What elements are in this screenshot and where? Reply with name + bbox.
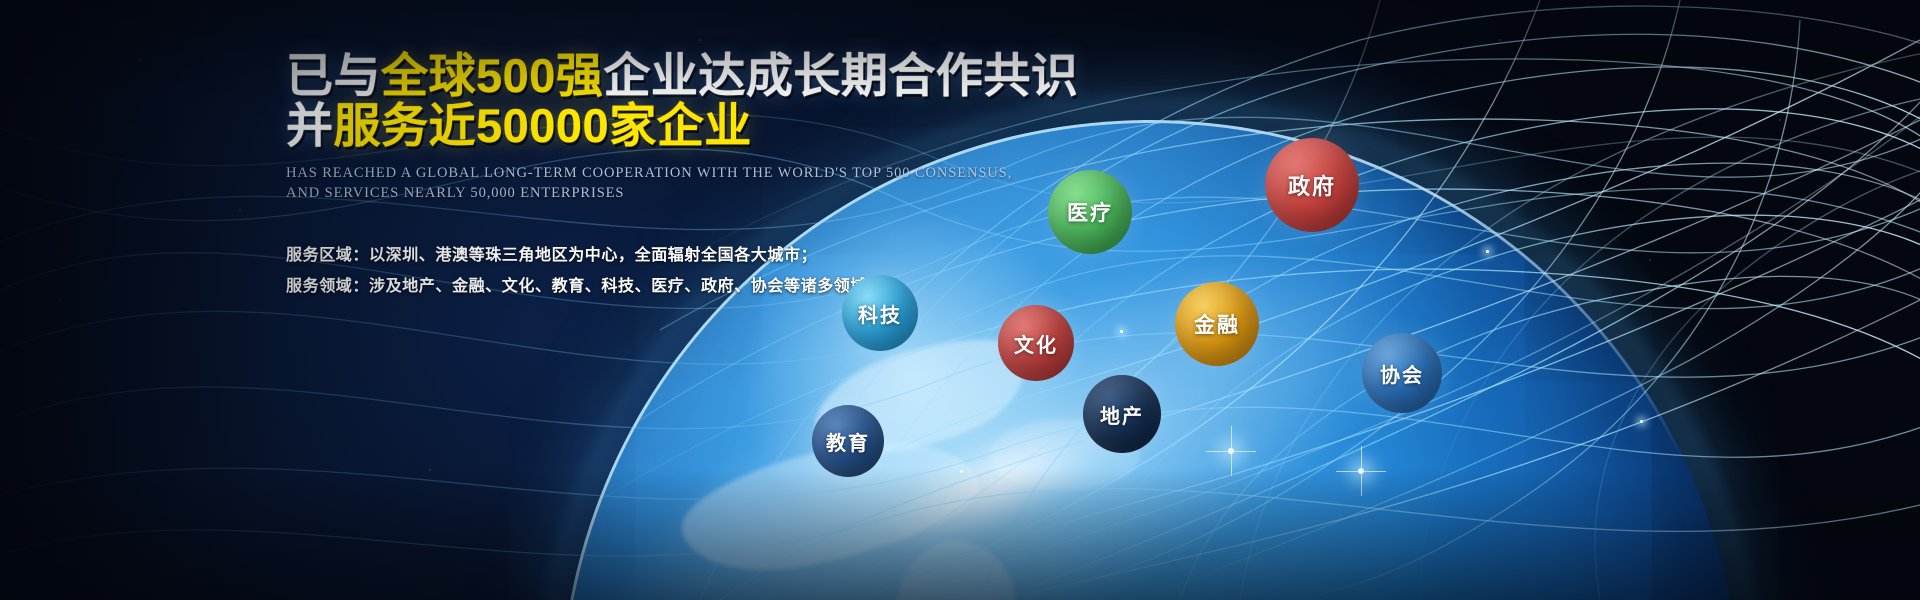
bubble-realestate-label: 地产 — [1100, 400, 1144, 429]
bubble-technology[interactable]: 科技 — [842, 275, 918, 351]
bubble-culture-label: 文化 — [1014, 329, 1058, 358]
headline-line-2: 并服务近50000家企业 — [286, 102, 1046, 150]
bubble-association[interactable]: 协会 — [1362, 333, 1442, 413]
service-description: 服务区域：以深圳、港澳等珠三角地区为中心，全面辐射全国各大城市； 服务领域：涉及… — [286, 240, 1046, 302]
english-subtitle-line-2: AND SERVICES NEARLY 50,000 ENTERPRISES — [286, 183, 1046, 204]
sparkle-node — [1486, 250, 1489, 253]
bubble-culture[interactable]: 文化 — [998, 305, 1074, 381]
bubble-technology-label: 科技 — [858, 299, 902, 328]
bubble-medical[interactable]: 医疗 — [1048, 170, 1132, 254]
sparkle-node — [1640, 420, 1643, 423]
bubble-education-label: 教育 — [826, 427, 870, 456]
service-area-line: 服务区域：以深圳、港澳等珠三角地区为中心，全面辐射全国各大城市； — [286, 240, 1046, 271]
sparkle-node — [1228, 448, 1234, 454]
bubble-finance-label: 金融 — [1194, 309, 1240, 339]
bubble-medical-label: 医疗 — [1067, 197, 1113, 227]
english-subtitle: HAS REACHED A GLOBAL LONG-TERM COOPERATI… — [286, 163, 1046, 204]
bubble-realestate[interactable]: 地产 — [1083, 375, 1161, 453]
bubble-government[interactable]: 政府 — [1265, 138, 1359, 232]
banner-copy: 已与全球500强企业达成长期合作共识 并服务近50000家企业 HAS REAC… — [286, 52, 1046, 302]
headline-line-1: 已与全球500强企业达成长期合作共识 — [286, 52, 1046, 100]
sparkle-node — [1358, 468, 1364, 474]
service-field-line: 服务领域：涉及地产、金融、文化、教育、科技、医疗、政府、协会等诸多领域。 — [286, 271, 1046, 302]
english-subtitle-line-1: HAS REACHED A GLOBAL LONG-TERM COOPERATI… — [286, 163, 1046, 184]
bubble-finance[interactable]: 金融 — [1175, 282, 1259, 366]
bubble-association-label: 协会 — [1380, 359, 1424, 388]
sparkle-node — [960, 470, 963, 473]
bubble-government-label: 政府 — [1288, 169, 1336, 201]
headline-2-seg-2-highlight: 服务近50000家企业 — [334, 99, 752, 152]
headline-1-seg-1: 已与 — [286, 49, 381, 102]
headline-1-seg-3: 企业达成长期合作共识 — [603, 49, 1078, 102]
headline-2-seg-1: 并 — [286, 99, 334, 152]
headline-1-seg-2-highlight: 全球500强 — [381, 49, 603, 102]
hero-banner: 已与全球500强企业达成长期合作共识 并服务近50000家企业 HAS REAC… — [0, 0, 1920, 600]
bubble-education[interactable]: 教育 — [812, 405, 884, 477]
sparkle-node — [1120, 330, 1123, 333]
